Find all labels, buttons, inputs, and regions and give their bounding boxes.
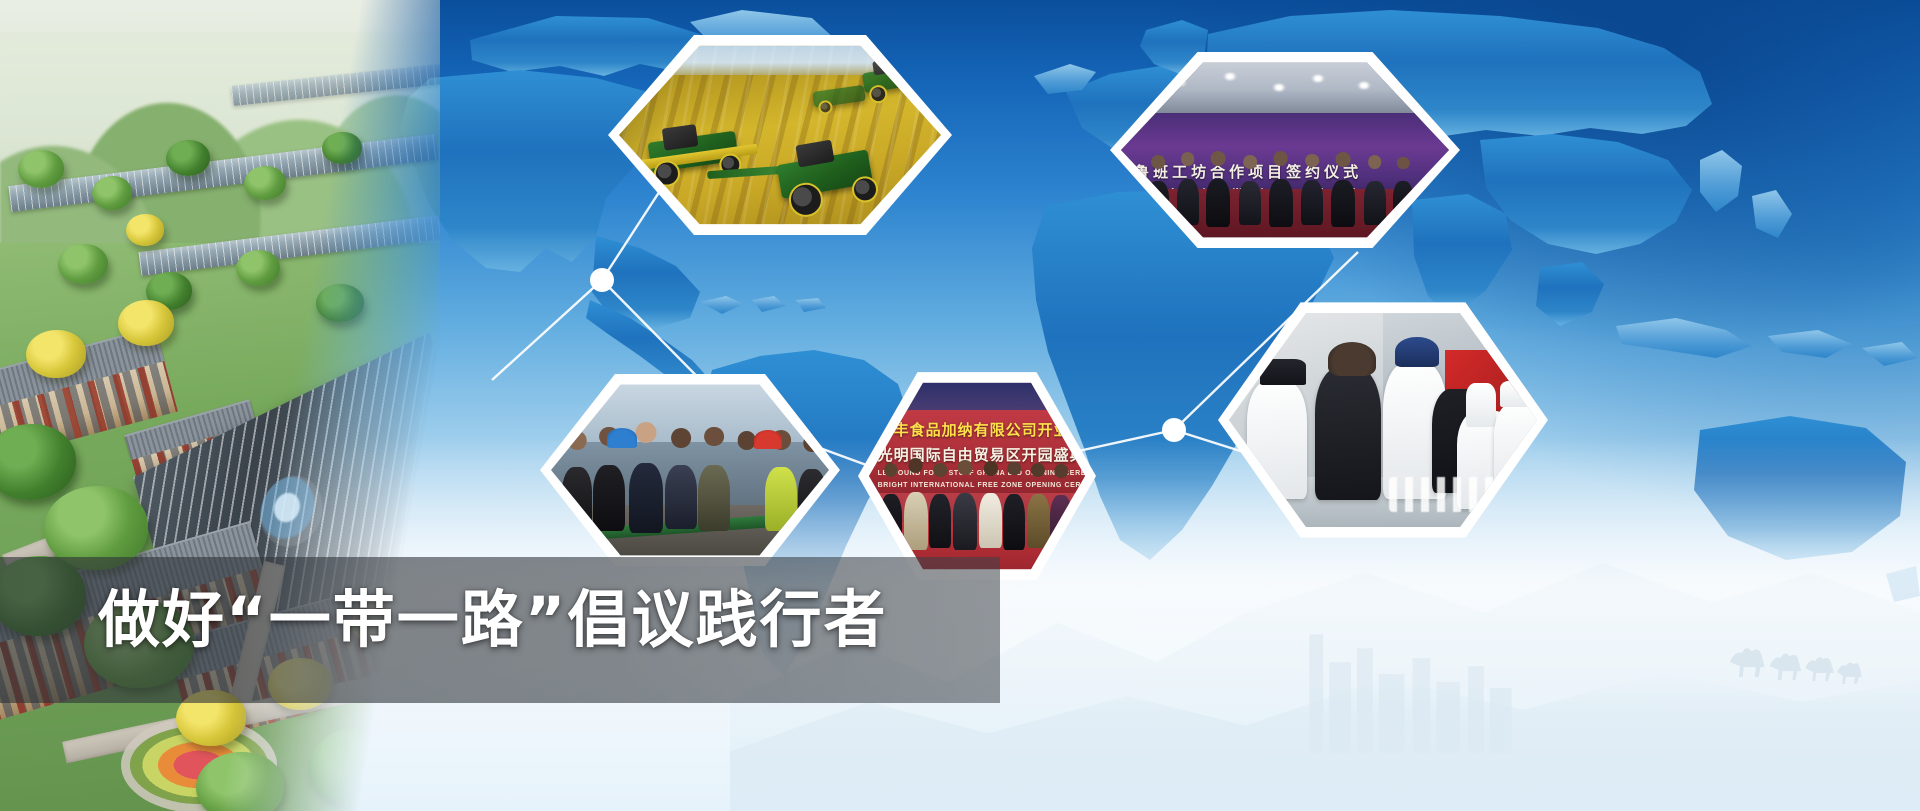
red-hard-hat — [754, 430, 782, 449]
banner-stage: 鲁班工坊合作项目签约仪式 Signing for the Luban Works… — [0, 0, 1920, 811]
ghana-banner-chinese-line2: 光明国际自由贸易区开园盛典 — [878, 444, 1077, 465]
ghana-banner-english-line1: LEEFOUND FOOD STUFF GHANA LTD OPENING CE… — [878, 470, 1081, 477]
blue-hard-hat — [607, 428, 637, 448]
page-title: 做好“一带一路”倡议践行者 — [98, 575, 888, 665]
ghana-banner-english-line2: BRIGHT INTERNATIONAL FREE ZONE OPENING C… — [878, 482, 1081, 489]
ghana-banner-chinese-line1: 利丰食品加纳有限公司开业庆典 — [878, 419, 1077, 440]
